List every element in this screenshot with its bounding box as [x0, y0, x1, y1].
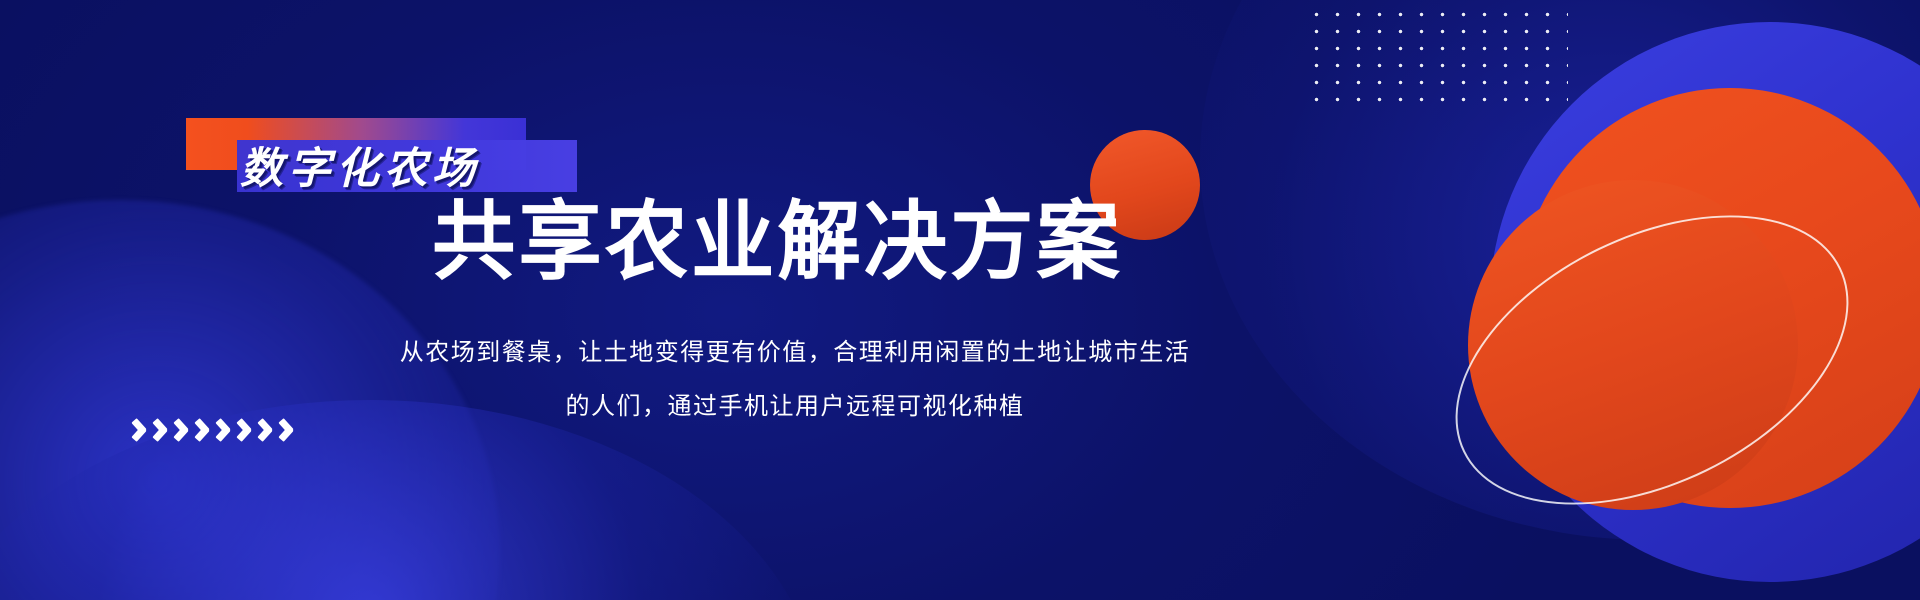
chevron-left-icon: [197, 408, 213, 452]
chevron-left-icon: [155, 408, 171, 452]
chevron-left-icon: [239, 408, 255, 452]
chevron-arrows-decoration: [134, 408, 297, 452]
page-title: 共享农业解决方案: [432, 196, 1123, 289]
chevron-left-icon: [260, 408, 276, 452]
subtitle-line-2: 的人们，通过手机让用户远程可视化种植: [360, 380, 1230, 434]
chevron-left-icon: [218, 408, 234, 452]
promo-banner: 数字化农场 共享农业解决方案 从农场到餐桌，让土地变得更有价值，合理利用闲置的土…: [0, 0, 1920, 600]
chevron-left-icon: [176, 408, 192, 452]
subtitle-line-1: 从农场到餐桌，让土地变得更有价值，合理利用闲置的土地让城市生活: [360, 326, 1230, 380]
subtitle-text: 从农场到餐桌，让土地变得更有价值，合理利用闲置的土地让城市生活 的人们，通过手机…: [360, 326, 1230, 434]
chevron-left-icon: [134, 408, 150, 452]
dot-column-pattern-icon: [16, 138, 20, 344]
badge-label: 数字化农场: [240, 134, 600, 196]
dot-grid-pattern-icon: [1306, 6, 1568, 114]
chevron-left-icon: [281, 408, 297, 452]
badge-tag: 数字化农场: [186, 118, 606, 194]
